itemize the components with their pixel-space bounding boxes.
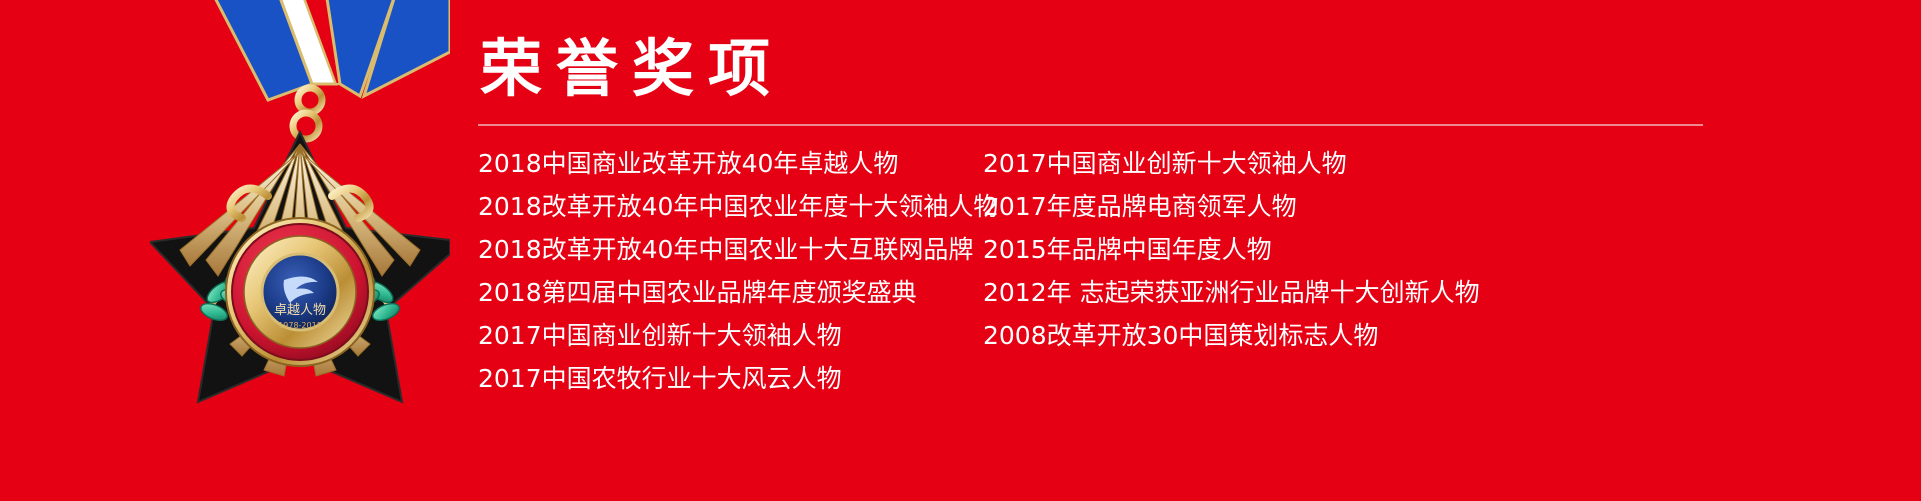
awards-columns: 2018中国商业改革开放40年卓越人物 2018改革开放40年中国农业年度十大领… (478, 144, 1908, 402)
award-item: 2018第四届中国农业品牌年度颁奖盛典 (478, 273, 983, 313)
award-item: 2018中国商业改革开放40年卓越人物 (478, 144, 983, 184)
awards-left-column: 2018中国商业改革开放40年卓越人物 2018改革开放40年中国农业年度十大领… (478, 144, 983, 402)
award-item: 2018改革开放40年中国农业年度十大领袖人物 (478, 187, 983, 227)
award-item: 2017中国商业创新十大领袖人物 (478, 316, 983, 356)
award-item: 2017中国商业创新十大领袖人物 (983, 144, 1743, 184)
medal-center-years: 1978-2018 (278, 321, 322, 330)
page-title: 荣誉奖项 (480, 38, 1908, 100)
medal-center-disc: 卓越人物 1978-2018 (226, 218, 374, 366)
award-item: 2017年度品牌电商领军人物 (983, 187, 1743, 227)
title-divider (478, 124, 1703, 126)
award-item: 2008改革开放30中国策划标志人物 (983, 316, 1743, 356)
awards-right-column: 2017中国商业创新十大领袖人物 2017年度品牌电商领军人物 2015年品牌中… (983, 144, 1743, 402)
awards-content: 荣誉奖项 2018中国商业改革开放40年卓越人物 2018改革开放40年中国农业… (478, 38, 1908, 402)
award-item: 2017中国农牧行业十大风云人物 (478, 359, 983, 399)
award-item: 2012年 志起荣获亚洲行业品牌十大创新人物 (983, 273, 1743, 313)
award-item: 2015年品牌中国年度人物 (983, 230, 1743, 270)
award-item: 2018改革开放40年中国农业十大互联网品牌 (478, 230, 983, 270)
honor-awards-banner: 卓越人物 1978-2018 荣誉奖项 2018中国商业改革开放40年卓越人物 … (0, 0, 1921, 501)
medal-rings (293, 88, 322, 139)
medal-center-text: 卓越人物 (274, 303, 326, 318)
medal-ribbon (212, 0, 450, 100)
award-medal-icon: 卓越人物 1978-2018 (150, 0, 450, 412)
